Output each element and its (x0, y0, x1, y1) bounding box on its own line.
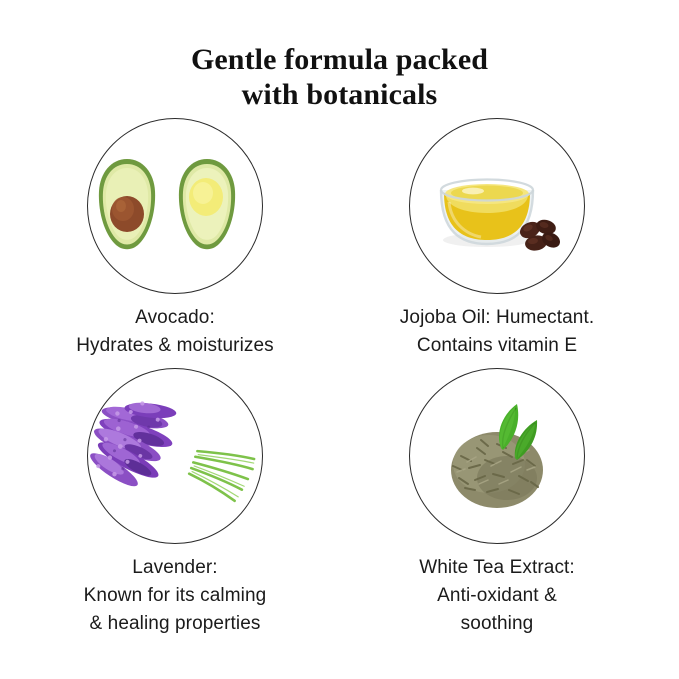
ingredient-circle-border-avocado (87, 118, 263, 294)
ingredient-card-white-tea-extract: White Tea Extract: Anti-oxidant & soothi… (332, 368, 662, 638)
ingredient-circle-border-white-tea-extract (409, 368, 585, 544)
caption-line: Avocado: (10, 304, 340, 332)
caption-line: Contains vitamin E (332, 332, 662, 360)
ingredient-circle-avocado (87, 118, 263, 294)
ingredient-caption-avocado: Avocado: Hydrates & moisturizes (10, 304, 340, 360)
ingredient-circle-lavender (87, 368, 263, 544)
ingredients-infographic: Gentle formula packed with botanicals (0, 0, 679, 679)
caption-line: Known for its calming (10, 582, 340, 610)
ingredient-caption-lavender: Lavender: Known for its calming & healin… (10, 554, 340, 638)
ingredient-circle-white-tea-extract (409, 368, 585, 544)
caption-line: White Tea Extract: (332, 554, 662, 582)
ingredient-circle-border-lavender (87, 368, 263, 544)
page-title-line-1: Gentle formula packed (0, 42, 679, 77)
caption-line: & healing properties (10, 610, 340, 638)
ingredient-card-lavender: Lavender: Known for its calming & healin… (10, 368, 340, 638)
caption-line: Hydrates & moisturizes (10, 332, 340, 360)
ingredient-caption-white-tea-extract: White Tea Extract: Anti-oxidant & soothi… (332, 554, 662, 638)
caption-line: Anti-oxidant & (332, 582, 662, 610)
ingredient-caption-jojoba-oil: Jojoba Oil: Humectant. Contains vitamin … (332, 304, 662, 360)
ingredient-circle-jojoba-oil (409, 118, 585, 294)
ingredient-card-avocado: Avocado: Hydrates & moisturizes (10, 118, 340, 360)
caption-line: Lavender: (10, 554, 340, 582)
ingredient-card-jojoba-oil: Jojoba Oil: Humectant. Contains vitamin … (332, 118, 662, 360)
page-title-line-2: with botanicals (0, 77, 679, 112)
caption-line: soothing (332, 610, 662, 638)
page-title: Gentle formula packed with botanicals (0, 42, 679, 112)
ingredient-circle-border-jojoba-oil (409, 118, 585, 294)
caption-line: Jojoba Oil: Humectant. (332, 304, 662, 332)
